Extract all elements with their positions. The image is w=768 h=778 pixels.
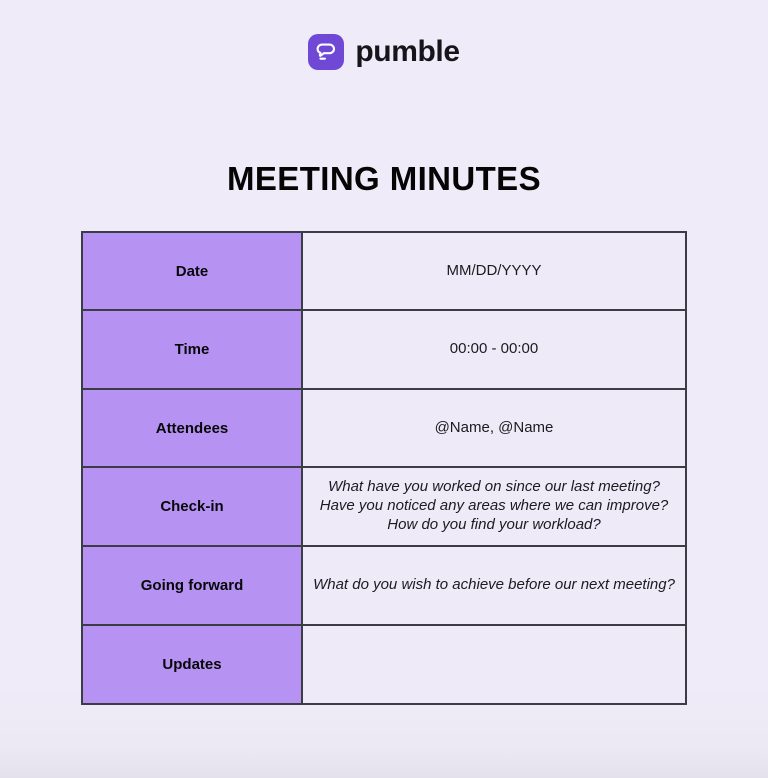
brand-logo: pumble: [0, 34, 768, 70]
row-label-going-forward: Going forward: [82, 546, 302, 625]
row-value-going-forward[interactable]: What do you wish to achieve before our n…: [302, 546, 686, 625]
table-row: Time 00:00 - 00:00: [82, 310, 686, 389]
row-label-attendees: Attendees: [82, 389, 302, 467]
value-line: Have you noticed any areas where we can …: [311, 497, 677, 516]
row-value-attendees[interactable]: @Name, @Name: [302, 389, 686, 467]
row-label-time: Time: [82, 310, 302, 389]
brand-name: pumble: [355, 37, 459, 67]
value-line: How do you find your workload?: [311, 516, 677, 535]
value-line: What do you wish to achieve before our n…: [311, 576, 677, 595]
table-row: Updates: [82, 625, 686, 704]
table-row: Date MM/DD/YYYY: [82, 232, 686, 310]
value-line: What have you worked on since our last m…: [311, 478, 677, 497]
value-line: MM/DD/YYYY: [311, 261, 677, 281]
page-canvas: pumble MEETING MINUTES Date MM/DD/YYYY T…: [0, 0, 768, 778]
table-row: Going forward What do you wish to achiev…: [82, 546, 686, 625]
row-label-updates: Updates: [82, 625, 302, 704]
row-value-check-in[interactable]: What have you worked on since our last m…: [302, 467, 686, 546]
row-label-check-in: Check-in: [82, 467, 302, 546]
meeting-minutes-table: Date MM/DD/YYYY Time 00:00 - 00:00 Atten…: [81, 231, 687, 705]
table-row: Check-in What have you worked on since o…: [82, 467, 686, 546]
table-row: Attendees @Name, @Name: [82, 389, 686, 467]
row-label-date: Date: [82, 232, 302, 310]
value-line: @Name, @Name: [311, 418, 677, 438]
row-value-updates[interactable]: [302, 625, 686, 704]
value-line: 00:00 - 00:00: [311, 339, 677, 359]
page-title: MEETING MINUTES: [0, 160, 768, 198]
row-value-time[interactable]: 00:00 - 00:00: [302, 310, 686, 389]
chat-bubble-icon: [308, 34, 344, 70]
row-value-date[interactable]: MM/DD/YYYY: [302, 232, 686, 310]
